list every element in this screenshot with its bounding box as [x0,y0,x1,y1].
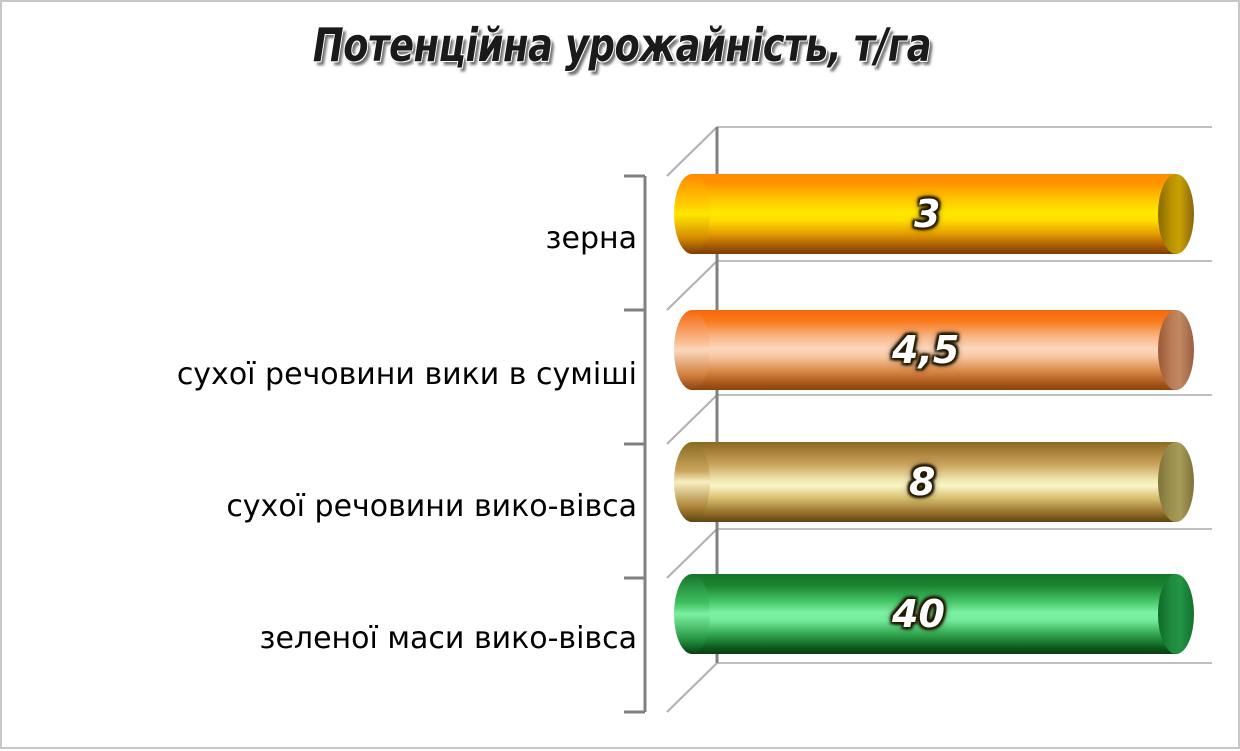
category-label-vyka-sumish: сухої речовини вики в суміші [0,360,637,390]
bar-value-zerna: 3 [914,192,940,236]
bar-cap-left-vyka-sumish [674,310,710,390]
bar-cap-right-vyko-vivsa-dry [1158,442,1194,522]
bar-cap-right-vyka-sumish [1158,310,1194,390]
depth-line-2 [667,395,717,444]
bar-vyka-sumish[interactable]: 4,5 [674,310,1194,390]
bar-zerna[interactable]: 3 [674,174,1194,254]
bar-cap-right-zerna [1158,174,1194,254]
bar-vyko-vivsa-dry[interactable]: 8 [674,442,1194,522]
depth-line-top [667,127,717,176]
bar-value-vyko-vivsa-green: 40 [892,592,945,636]
depth-line-base [667,663,717,712]
bar-cap-left-vyko-vivsa-dry [674,442,710,522]
category-label-vyko-vivsa-green: зеленої маси вико-вівса [0,624,637,654]
bar-cap-left-vyko-vivsa-green [674,574,710,654]
bar-value-vyka-sumish: 4,5 [892,328,959,372]
plot-area: зерна сухої речовини вики в суміші сухої… [2,2,1240,751]
bar-cap-right-vyko-vivsa-green [1158,574,1194,654]
category-label-vyko-vivsa-dry: сухої речовини вико-вівса [0,492,637,522]
depth-line-3 [667,529,717,578]
bar-vyko-vivsa-green[interactable]: 40 [674,574,1194,654]
bar-value-vyko-vivsa-dry: 8 [909,460,935,504]
depth-line-1 [667,261,717,310]
bar-cap-left-zerna [674,174,710,254]
category-label-zerna: зерна [0,224,637,254]
chart-container: Потенційна урожайність, т/га [0,0,1240,749]
